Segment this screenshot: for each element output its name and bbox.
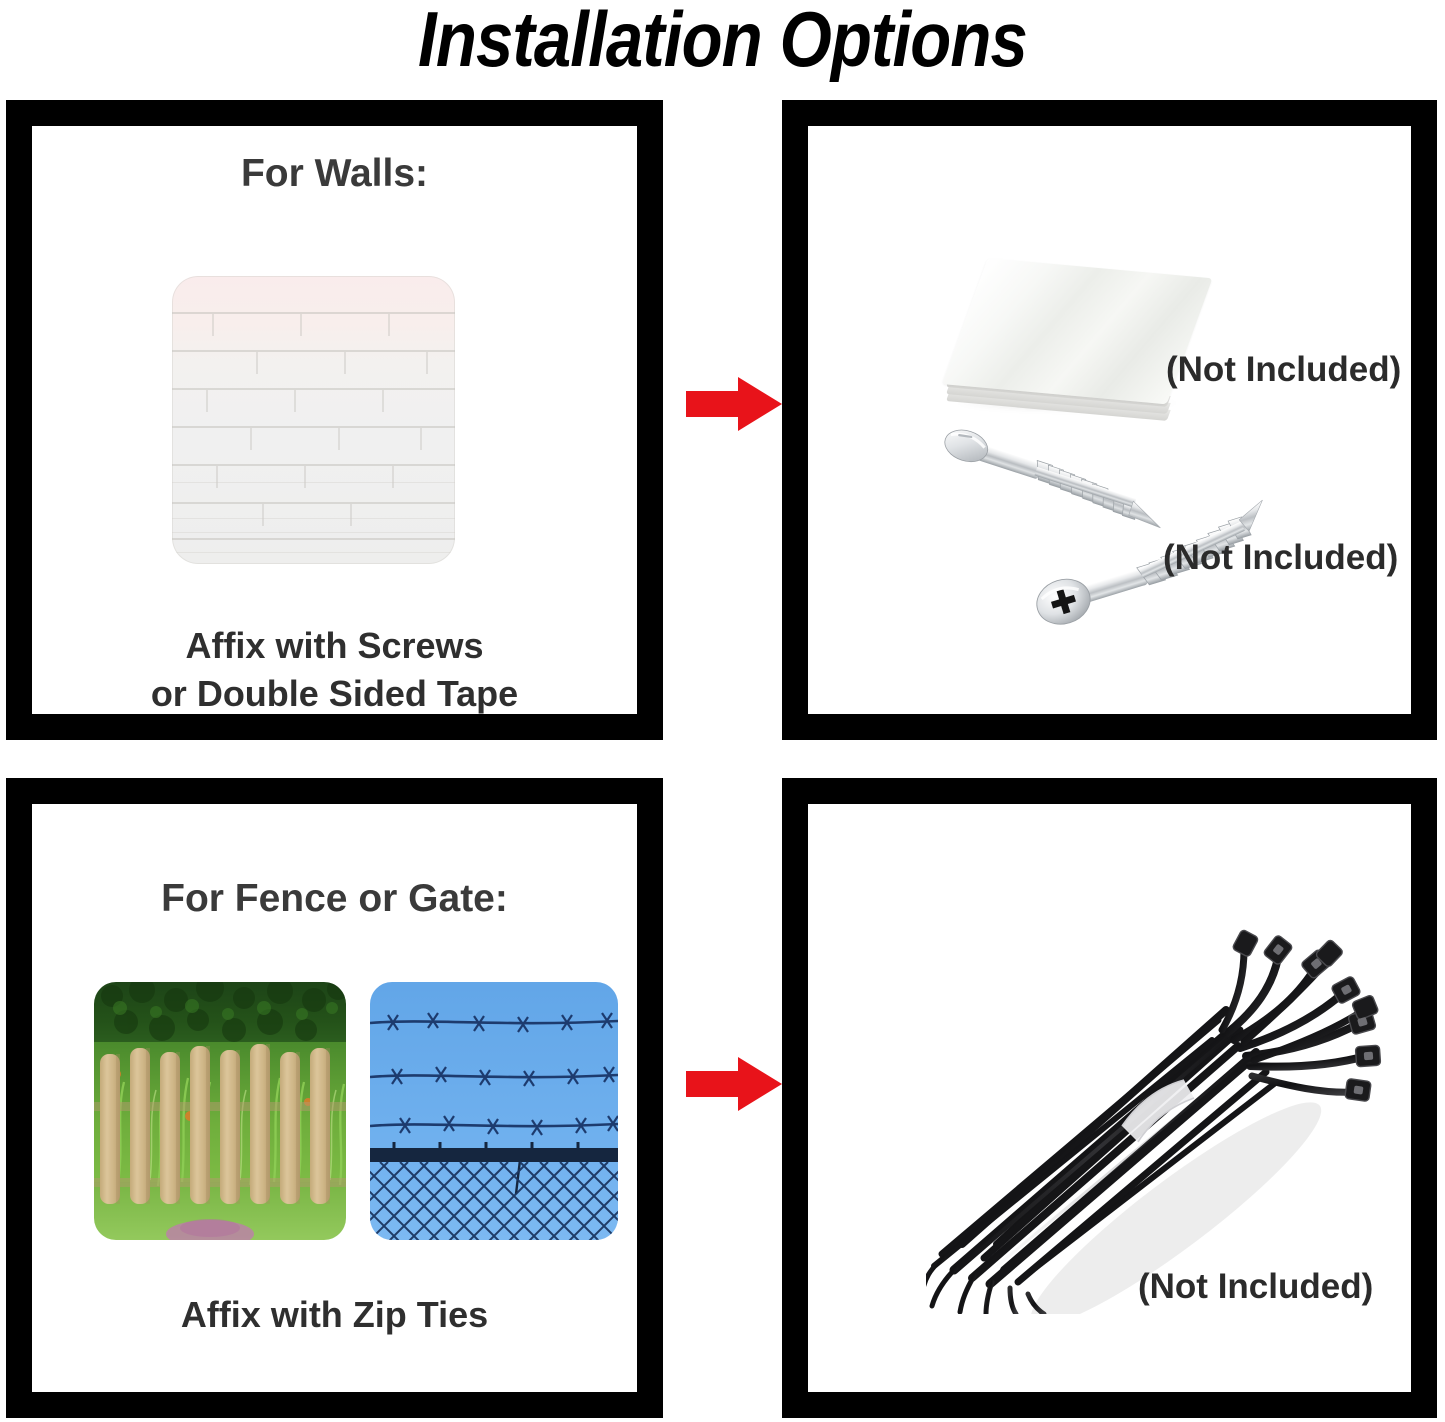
- panel-fence-hardware: (Not Included): [782, 778, 1437, 1418]
- fence-caption: Affix with Zip Ties: [32, 1291, 637, 1339]
- panel-for-walls: For Walls:: [6, 100, 663, 740]
- for-fence-or-gate-heading: For Fence or Gate:: [32, 877, 637, 921]
- red-arrow-right-icon-fence: [686, 1055, 782, 1113]
- for-walls-heading: For Walls:: [32, 152, 637, 196]
- walls-caption-line-1: Affix with Screws: [32, 622, 637, 670]
- tape-not-included-note: (Not Included): [1166, 350, 1401, 390]
- double-sided-tape-stack-image: [942, 250, 1194, 418]
- screw-not-included-note: (Not Included): [1163, 538, 1398, 578]
- ziptie-not-included-note: (Not Included): [1138, 1267, 1373, 1307]
- page-title: Installation Options: [101, 0, 1344, 83]
- black-zip-tie-bundle-image: [926, 914, 1396, 1314]
- walls-caption-line-2: or Double Sided Tape: [32, 670, 637, 718]
- red-arrow-right-icon-walls: [686, 375, 782, 433]
- wooden-picket-fence-photo: [94, 982, 346, 1240]
- panel-wall-hardware: (Not Included): [782, 100, 1437, 740]
- panel-for-fence-or-gate: For Fence or Gate:: [6, 778, 663, 1418]
- white-brick-wall-image: [172, 276, 455, 564]
- barbed-wire-chain-link-fence-photo: [370, 982, 618, 1240]
- walls-caption: Affix with Screws or Double Sided Tape: [32, 622, 637, 717]
